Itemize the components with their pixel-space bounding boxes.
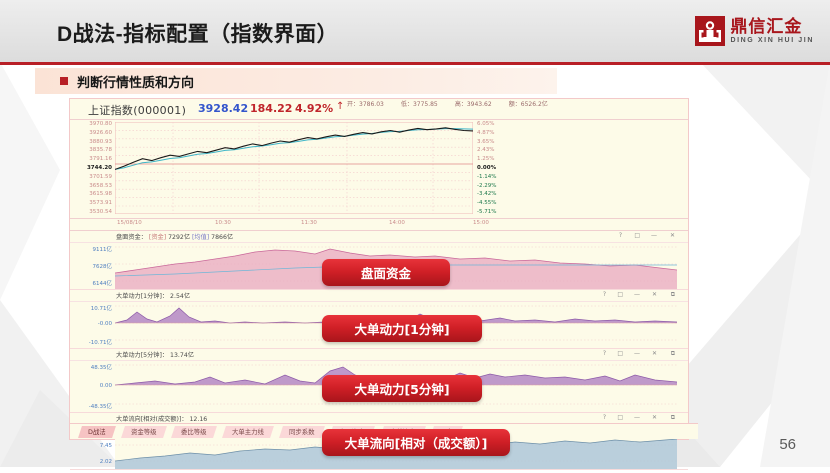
panel-axis-1min: 10.71亿 -0.00 -10.71亿	[70, 302, 114, 348]
terminal-tab-label: 委比等级	[181, 426, 207, 438]
axis-tick: 6144亿	[93, 279, 113, 287]
stat-label-low: 低：	[401, 100, 413, 109]
price-axis-tick: 3530.54	[89, 210, 112, 216]
panel-label: 大单动力[5分钟]：	[116, 352, 168, 359]
percent-axis-tick: -1.14%	[477, 175, 496, 181]
index-price: 3928.42	[198, 102, 248, 115]
terminal-tab[interactable]: 资金等级	[121, 426, 166, 438]
brand-logo: 鼎信汇金 DING XIN HUI JIN	[695, 14, 814, 48]
stat-label-open: 开：	[347, 100, 359, 109]
terminal-tab[interactable]: D战法	[78, 426, 116, 438]
panel-value-1: 13.74亿	[170, 352, 194, 359]
slide-header: D战法-指标配置（指数界面） 鼎信汇金 DING XIN HUI JIN	[0, 0, 830, 62]
panel-value-1: 12.16	[190, 416, 208, 423]
panel-key-1: [资金]	[149, 234, 166, 241]
axis-tick: 0.00	[100, 383, 112, 389]
panel-value-2: 7866亿	[211, 234, 233, 241]
panel-big-order-power-1min[interactable]: 大单动力[1分钟]： 2.54亿 ? □ — ✕ ⧉ 10.71亿 -0.00 …	[70, 290, 688, 349]
up-arrow-icon: ↑	[336, 101, 344, 112]
callout-1min: 大单动力[1分钟]	[322, 315, 482, 342]
panel-key-2: [均值]	[192, 234, 209, 241]
maximize-icon[interactable]: □	[634, 232, 640, 239]
price-axis-tick: 3791.16	[89, 157, 112, 163]
maximize-icon[interactable]: □	[617, 414, 623, 421]
callout-capital-flow: 盘面资金	[322, 259, 450, 286]
stat-value-open: 3786.03	[359, 100, 384, 109]
minimize-icon[interactable]: —	[634, 350, 640, 357]
close-icon[interactable]: ✕	[652, 291, 657, 298]
panel-label: 大单动力[1分钟]：	[116, 293, 168, 300]
axis-tick: 9111亿	[93, 245, 113, 253]
time-axis-tick: 15:00	[473, 220, 489, 226]
panel-title-1min: 大单动力[1分钟]： 2.54亿	[116, 291, 190, 300]
axis-tick: -0.00	[98, 321, 112, 327]
maximize-icon[interactable]: □	[617, 350, 623, 357]
percent-axis-tick: 0.00%	[477, 166, 496, 172]
price-axis-left: 3970.803926.603880.933835.783791.163744.…	[70, 120, 114, 218]
panel-title-5min: 大单动力[5分钟]： 13.74亿	[116, 350, 194, 359]
close-icon[interactable]: ✕	[652, 350, 657, 357]
time-axis: 15/08/1010:3011:3014:0015:00	[70, 219, 688, 231]
page-title: D战法-指标配置（指数界面）	[57, 18, 338, 48]
terminal-tab[interactable]: 委比等级	[171, 426, 216, 438]
panel-capital-flow[interactable]: 盘面资金： [资金] 7292亿 [均值] 7866亿 ? □ — ✕ 9111…	[70, 231, 688, 290]
price-axis-tick: 3880.93	[89, 140, 112, 146]
help-icon[interactable]: ?	[603, 291, 606, 298]
minimize-icon[interactable]: —	[634, 291, 640, 298]
price-axis-tick: 3658.53	[89, 184, 112, 190]
panel-title-capital-flow: 盘面资金： [资金] 7292亿 [均值] 7866亿	[116, 232, 233, 241]
minimize-icon[interactable]: —	[651, 232, 657, 239]
stat-label-amount: 额：	[509, 100, 521, 109]
time-axis-tick: 14:00	[389, 220, 405, 226]
page-number: 56	[779, 436, 796, 453]
terminal-tab-label: D战法	[88, 426, 106, 438]
terminal-tab-label: 大单主力线	[232, 426, 264, 438]
price-axis-tick: 3615.98	[89, 192, 112, 198]
callout-5min: 大单动力[5分钟]	[322, 375, 482, 402]
stat-value-low: 3775.85	[413, 100, 438, 109]
logo-name-en: DING XIN HUI JIN	[730, 37, 814, 44]
logo-text: 鼎信汇金 DING XIN HUI JIN	[730, 18, 814, 44]
logo-mark-icon	[695, 16, 725, 46]
panel-big-order-direction[interactable]: 大单流向[相对(成交额)]： 12.16 ? □ — ✕ ⧉ 12.87 7.4…	[70, 413, 688, 470]
help-icon[interactable]: ?	[603, 350, 606, 357]
axis-tick: 7.45	[100, 443, 112, 449]
restore-icon[interactable]: ⧉	[671, 291, 675, 299]
panel-label: 盘面资金：	[116, 234, 147, 241]
percent-axis-right: 6.05%4.87%3.65%2.43%1.25%0.00%-1.14%-2.2…	[474, 120, 518, 218]
maximize-icon[interactable]: □	[617, 291, 623, 298]
panel-titlebar-capital-flow: 盘面资金： [资金] 7292亿 [均值] 7866亿 ? □ — ✕	[70, 231, 688, 243]
terminal-tab-label: 资金等级	[131, 426, 157, 438]
price-axis-tick: 3701.59	[89, 175, 112, 181]
panel-axis-5min: 48.35亿 0.00 -48.35亿	[70, 361, 114, 412]
percent-axis-tick: 3.65%	[477, 140, 494, 146]
section-bullet-band: 判断行情性质和方向	[35, 68, 557, 94]
restore-icon[interactable]: ⧉	[671, 350, 675, 358]
price-axis-tick: 3970.80	[89, 122, 112, 128]
help-icon[interactable]: ?	[603, 414, 606, 421]
index-change: 184.22	[250, 102, 292, 115]
terminal-tab-label: 同步系数	[289, 426, 315, 438]
axis-tick: 2.02	[100, 459, 112, 465]
terminal-tab[interactable]: 同步系数	[279, 426, 324, 438]
axis-tick: 10.71亿	[91, 304, 112, 312]
section-heading: 判断行情性质和方向	[77, 72, 194, 91]
index-change-percent: 4.92%	[295, 102, 333, 115]
panel-titlebar-1min: 大单动力[1分钟]： 2.54亿 ? □ — ✕ ⧉	[70, 290, 688, 302]
price-axis-tick: 3744.20	[87, 166, 112, 172]
intraday-plot	[115, 122, 473, 214]
panel-title-direction: 大单流向[相对(成交额)]： 12.16	[116, 414, 207, 423]
close-icon[interactable]: ✕	[670, 232, 675, 239]
percent-axis-tick: -2.29%	[477, 184, 496, 190]
price-axis-tick: 3835.78	[89, 148, 112, 154]
close-icon[interactable]: ✕	[652, 414, 657, 421]
trading-terminal-window[interactable]: 上证指数(000001) 3928.42 184.22 4.92% ↑ 开：37…	[69, 98, 689, 440]
header-divider	[0, 62, 830, 65]
stat-value-amount: 6526.2亿	[521, 100, 548, 109]
intraday-chart[interactable]: 3970.803926.603880.933835.783791.163744.…	[70, 120, 688, 219]
panel-axis-capital-flow: 9111亿 7628亿 6144亿	[70, 243, 114, 289]
index-name: 上证指数(000001)	[88, 102, 186, 118]
price-axis-tick: 3573.91	[89, 201, 112, 207]
quote-stats: 开：3786.03 低：3775.85 高：3943.62 额：6526.2亿	[347, 100, 561, 109]
percent-axis-tick: -3.42%	[477, 192, 496, 198]
percent-axis-tick: 6.05%	[477, 122, 494, 128]
percent-axis-tick: 4.87%	[477, 131, 494, 137]
price-axis-tick: 3926.60	[89, 131, 112, 137]
logo-name-cn: 鼎信汇金	[730, 18, 814, 35]
help-icon[interactable]: ?	[619, 232, 622, 239]
terminal-tab[interactable]: 大单主力线	[222, 426, 274, 438]
time-axis-tick: 15/08/10	[117, 220, 142, 226]
panel-big-order-power-5min[interactable]: 大单动力[5分钟]： 13.74亿 ? □ — ✕ ⧉ 48.35亿 0.00 …	[70, 349, 688, 413]
percent-axis-tick: -5.71%	[477, 210, 496, 216]
time-axis-tick: 11:30	[301, 220, 317, 226]
bullet-square-icon	[60, 77, 68, 85]
axis-tick: -48.35亿	[89, 402, 112, 410]
time-axis-tick: 10:30	[215, 220, 231, 226]
percent-axis-tick: 1.25%	[477, 157, 494, 163]
panel-titlebar-5min: 大单动力[5分钟]： 13.74亿 ? □ — ✕ ⧉	[70, 349, 688, 361]
panel-label: 大单流向[相对(成交额)]：	[116, 416, 188, 423]
panel-value-1: 7292亿	[168, 234, 190, 241]
callout-direction: 大单流向[相对（成交额）]	[322, 429, 510, 456]
minimize-icon[interactable]: —	[634, 414, 640, 421]
axis-tick: 7628亿	[93, 262, 113, 270]
panel-value-1: 2.54亿	[170, 293, 190, 300]
stat-label-high: 高：	[455, 100, 467, 109]
restore-icon[interactable]: ⧉	[671, 414, 675, 422]
stat-value-high: 3943.62	[467, 100, 492, 109]
percent-axis-tick: 2.43%	[477, 148, 494, 154]
axis-tick: -10.71亿	[89, 338, 112, 346]
quote-bar: 上证指数(000001) 3928.42 184.22 4.92% ↑ 开：37…	[70, 99, 688, 120]
percent-axis-tick: -4.55%	[477, 201, 496, 207]
axis-tick: 48.35亿	[91, 363, 112, 371]
